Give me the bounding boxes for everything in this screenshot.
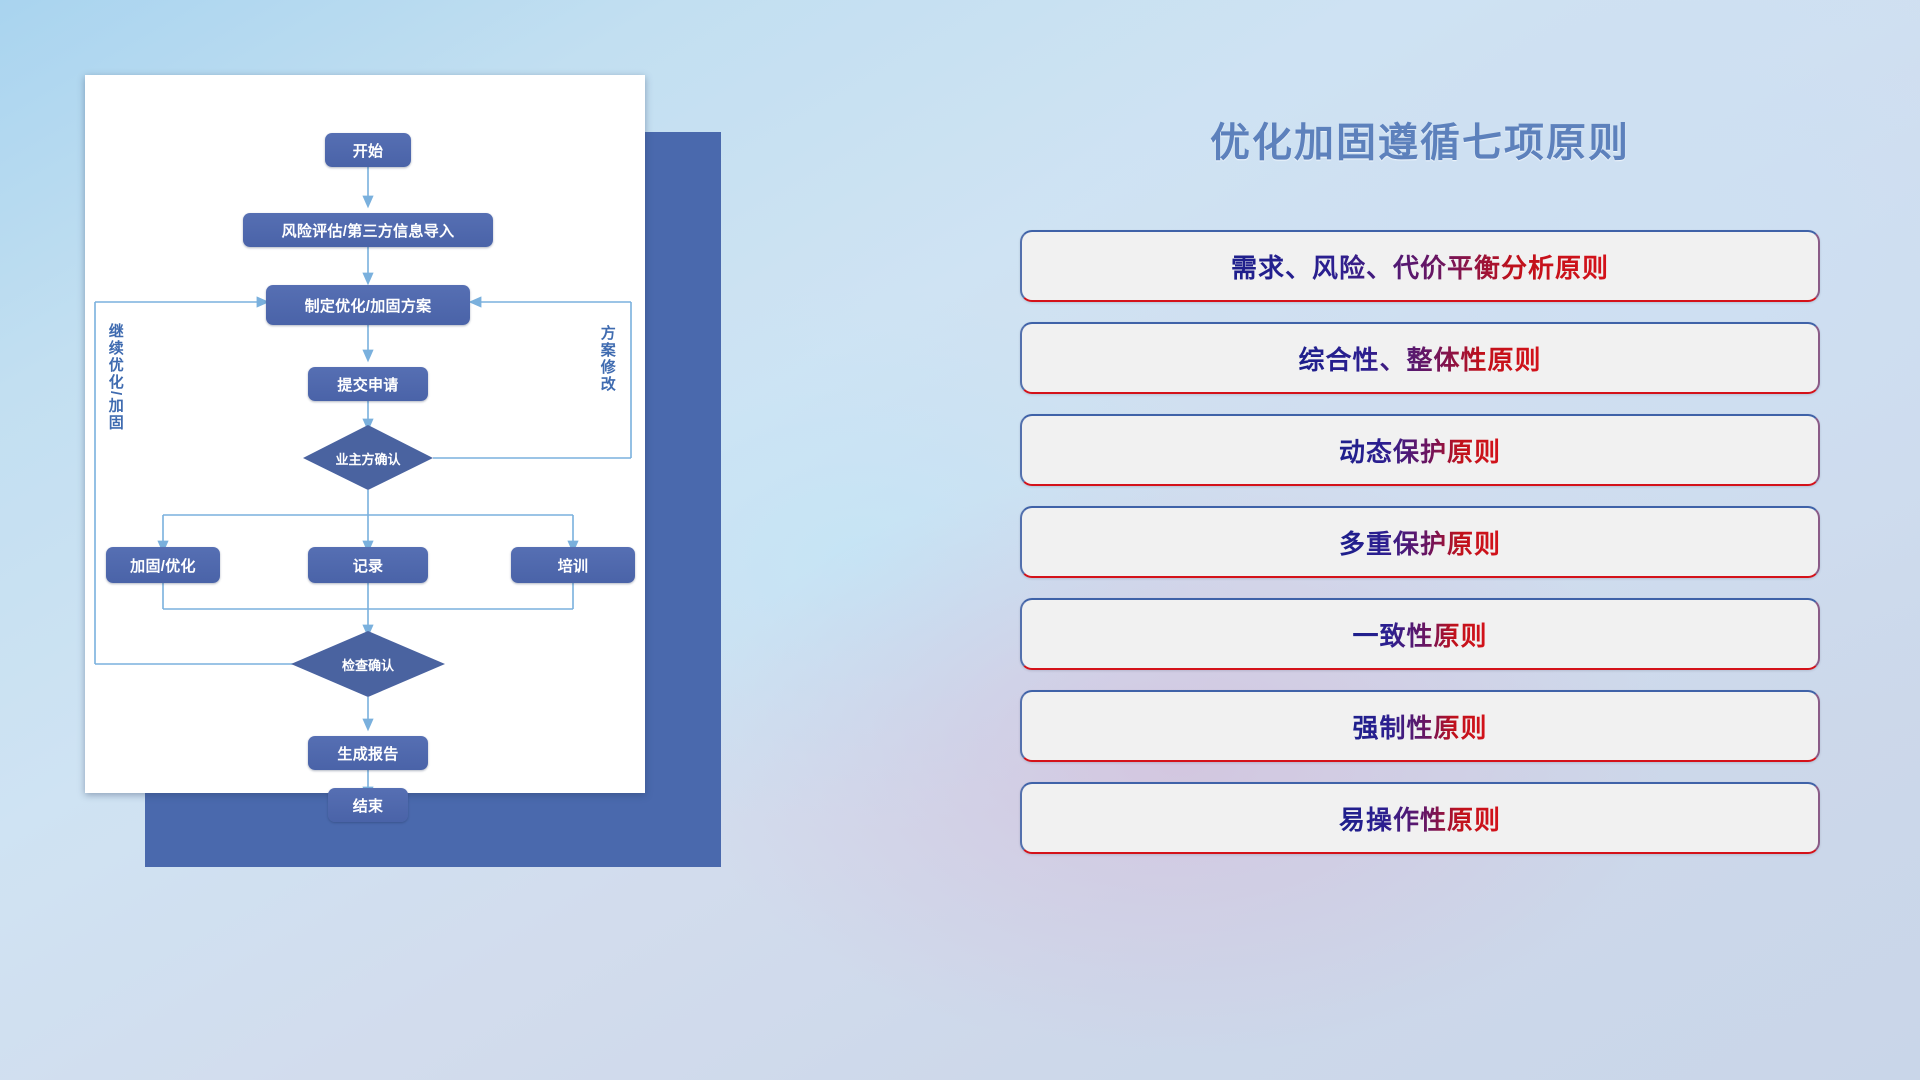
- principles-list: 需求、风险、代价平衡分析原则 综合性、整体性原则 动态保护原则 多重保护原则 一…: [1020, 230, 1820, 874]
- node-submit-application-label: 提交申请: [337, 374, 398, 395]
- node-plan-label: 制定优化/加固方案: [305, 295, 432, 316]
- principle-card-label: 易操作性原则: [1339, 800, 1501, 837]
- node-reinforce-optimize-label: 加固/优化: [130, 555, 196, 576]
- node-generate-report[interactable]: 生成报告: [308, 736, 428, 770]
- principle-card[interactable]: 易操作性原则: [1020, 782, 1820, 854]
- slide-canvas: 开始 风险评估/第三方信息导入 制定优化/加固方案 提交申请 业主方确认 加固/…: [0, 0, 1920, 1080]
- principle-card-label: 多重保护原则: [1339, 524, 1501, 561]
- edge-label-continue-optimize: 继续优化/加固: [107, 323, 123, 431]
- node-reinforce-optimize[interactable]: 加固/优化: [106, 547, 220, 583]
- flowchart-connectors: [85, 75, 645, 793]
- node-record[interactable]: 记录: [308, 547, 428, 583]
- principle-card-label: 综合性、整体性原则: [1298, 340, 1541, 377]
- principle-card[interactable]: 多重保护原则: [1020, 506, 1820, 578]
- principle-card[interactable]: 需求、风险、代价平衡分析原则: [1020, 230, 1820, 302]
- node-end-label: 结束: [353, 795, 384, 816]
- node-start-label: 开始: [353, 140, 384, 161]
- page-title: 优化加固遵循七项原则: [1020, 110, 1820, 168]
- node-generate-report-label: 生成报告: [337, 743, 398, 764]
- edge-label-plan-revision: 方案修改: [599, 325, 615, 393]
- principle-card[interactable]: 一致性原则: [1020, 598, 1820, 670]
- principle-card[interactable]: 综合性、整体性原则: [1020, 322, 1820, 394]
- node-risk-assessment[interactable]: 风险评估/第三方信息导入: [243, 213, 493, 247]
- decision-check-shape: [291, 631, 445, 697]
- node-start[interactable]: 开始: [325, 133, 411, 167]
- flowchart-panel: 开始 风险评估/第三方信息导入 制定优化/加固方案 提交申请 业主方确认 加固/…: [85, 75, 661, 810]
- decision-owner-shape: [303, 425, 433, 490]
- node-training[interactable]: 培训: [511, 547, 635, 583]
- principle-card[interactable]: 动态保护原则: [1020, 414, 1820, 486]
- node-end[interactable]: 结束: [328, 788, 408, 822]
- principle-card-label: 一致性原则: [1352, 616, 1487, 653]
- node-training-label: 培训: [558, 555, 589, 576]
- principle-card-label: 强制性原则: [1352, 708, 1487, 745]
- flowchart-diagram: 开始 风险评估/第三方信息导入 制定优化/加固方案 提交申请 业主方确认 加固/…: [85, 75, 661, 810]
- node-plan[interactable]: 制定优化/加固方案: [266, 285, 470, 325]
- node-risk-assessment-label: 风险评估/第三方信息导入: [282, 220, 455, 241]
- node-submit-application[interactable]: 提交申请: [308, 367, 428, 401]
- principles-panel: 优化加固遵循七项原则 需求、风险、代价平衡分析原则 综合性、整体性原则 动态保护…: [1020, 70, 1820, 168]
- principle-card-label: 需求、风险、代价平衡分析原则: [1231, 248, 1609, 285]
- node-record-label: 记录: [353, 555, 384, 576]
- principle-card-label: 动态保护原则: [1339, 432, 1501, 469]
- principle-card[interactable]: 强制性原则: [1020, 690, 1820, 762]
